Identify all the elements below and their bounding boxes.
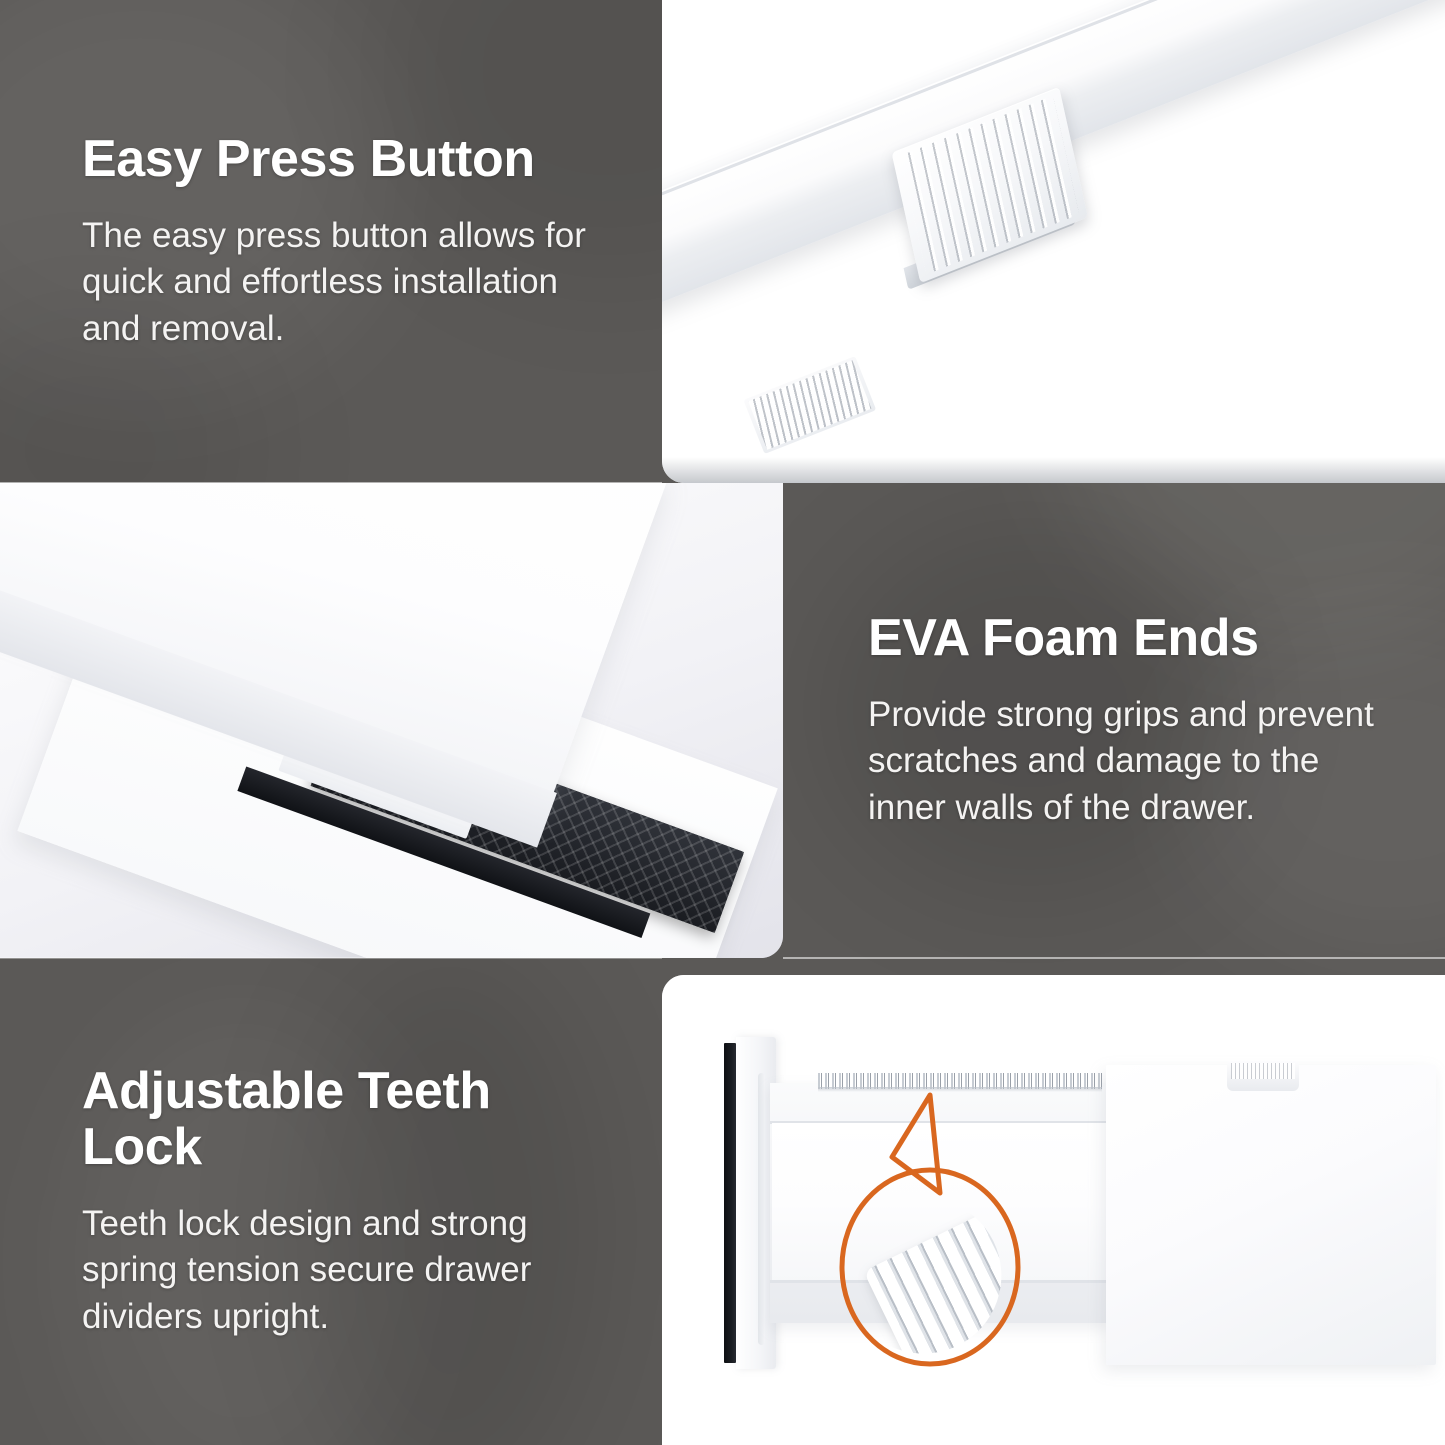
- magnifier-callout-icon: [822, 1085, 1122, 1395]
- photo-bottom-shadow: [662, 457, 1445, 483]
- feature-photo-adjustable-teeth-lock: [662, 975, 1445, 1445]
- feature-body-text: The easy press button allows for quick a…: [82, 213, 602, 353]
- feature-text-eva-foam-ends: EVA Foam Ends Provide strong grips and p…: [783, 483, 1445, 958]
- divider-sliding-slab: [1106, 1065, 1436, 1365]
- release-tab-ribs: [1231, 1063, 1295, 1079]
- infographic-canvas: Easy Press Button The easy press button …: [0, 0, 1445, 1445]
- press-button-scene: [662, 0, 1445, 483]
- feature-photo-eva-foam-ends: [0, 483, 783, 958]
- row-seam-top: [0, 482, 662, 484]
- teeth-lock-scene: [662, 975, 1445, 1445]
- feature-text-adjustable-teeth-lock: Adjustable Teeth Lock Teeth lock design …: [0, 958, 662, 1445]
- row-seam-middle: [783, 957, 1445, 959]
- slab-release-tab: [1227, 1061, 1299, 1091]
- row-seam-bottom: [0, 957, 662, 959]
- feature-body-text: Teeth lock design and strong spring tens…: [82, 1201, 622, 1341]
- divider-ribbed-endcap: [743, 356, 876, 454]
- feature-heading: Adjustable Teeth Lock: [82, 1063, 622, 1175]
- feature-text-easy-press-button: Easy Press Button The easy press button …: [0, 0, 662, 483]
- feature-heading: Easy Press Button: [82, 131, 602, 187]
- eva-foam-scene: [0, 483, 783, 958]
- eva-foam-end-edge: [724, 1043, 736, 1363]
- end-plate-groove: [758, 1073, 765, 1345]
- feature-body-text: Provide strong grips and prevent scratch…: [868, 692, 1393, 832]
- feature-photo-easy-press-button: [662, 0, 1445, 483]
- feature-heading: EVA Foam Ends: [868, 610, 1393, 666]
- endcap-ribs: [748, 360, 871, 449]
